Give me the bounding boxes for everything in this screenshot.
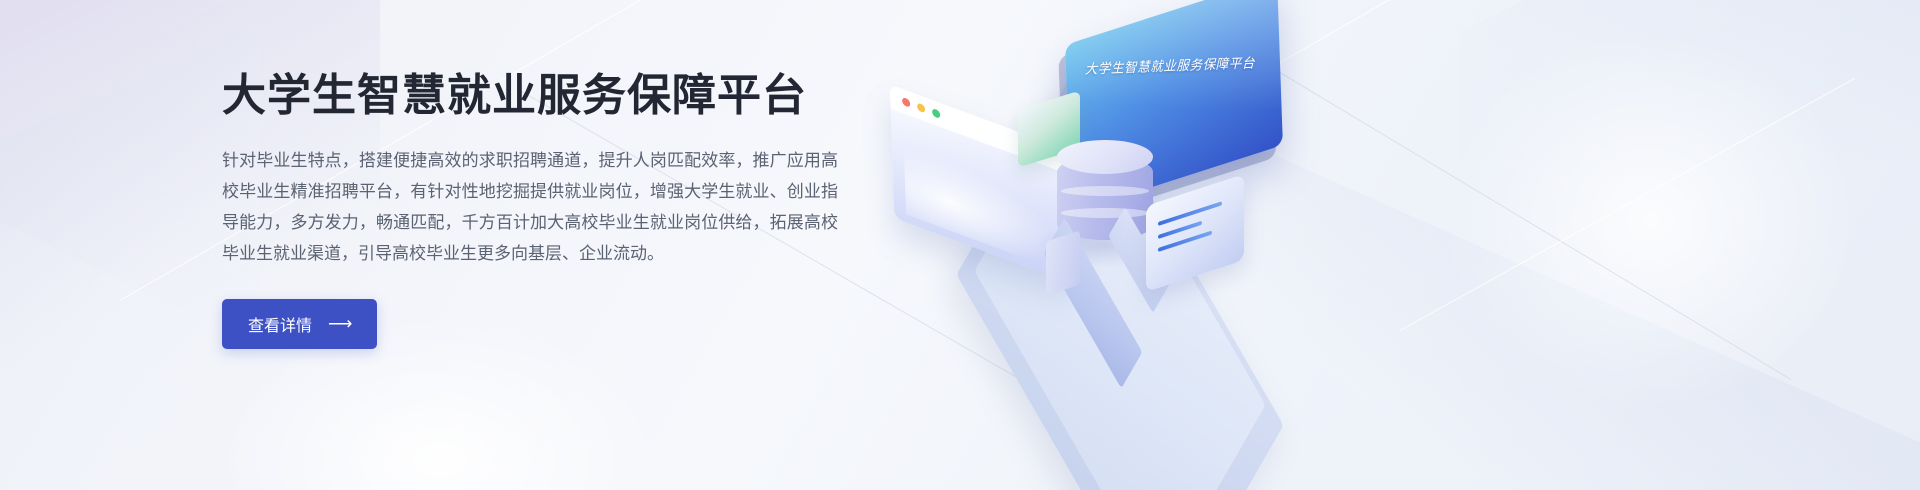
banner-content: 大学生智慧就业服务保障平台 针对毕业生特点，搭建便捷高效的求职招聘通道，提升人岗… bbox=[222, 70, 842, 349]
bg-line-5 bbox=[1400, 78, 1855, 331]
window-close-dot-icon bbox=[902, 97, 910, 108]
view-details-button[interactable]: 查看详情 ⟶ bbox=[222, 299, 377, 349]
cylinder-ring-2 bbox=[1061, 208, 1149, 218]
cylinder-top bbox=[1057, 140, 1153, 174]
window-maximize-dot-icon bbox=[932, 108, 940, 119]
cylinder-ring-1 bbox=[1061, 186, 1149, 196]
chat-line-1 bbox=[1158, 201, 1222, 226]
banner-description: 针对毕业生特点，搭建便捷高效的求职招聘通道，提升人岗匹配效率，推广应用高校毕业生… bbox=[222, 145, 838, 269]
chat-card bbox=[1146, 174, 1244, 292]
arrow-right-icon: ⟶ bbox=[328, 315, 351, 332]
pillar-block bbox=[1046, 230, 1080, 295]
bg-plane-left-lower bbox=[0, 24, 260, 490]
bg-glow-right bbox=[1440, 30, 1860, 410]
hero-banner: 大学生智慧就业服务保障平台 针对毕业生特点，搭建便捷高效的求职招聘通道，提升人岗… bbox=[0, 0, 1920, 490]
view-details-label: 查看详情 bbox=[248, 312, 312, 336]
page-title: 大学生智慧就业服务保障平台 bbox=[222, 70, 842, 123]
bg-plane-right bbox=[1460, 0, 1920, 451]
window-minimize-dot-icon bbox=[917, 102, 925, 113]
hero-illustration: 大学生智慧就业服务保障平台 bbox=[900, 0, 1420, 490]
